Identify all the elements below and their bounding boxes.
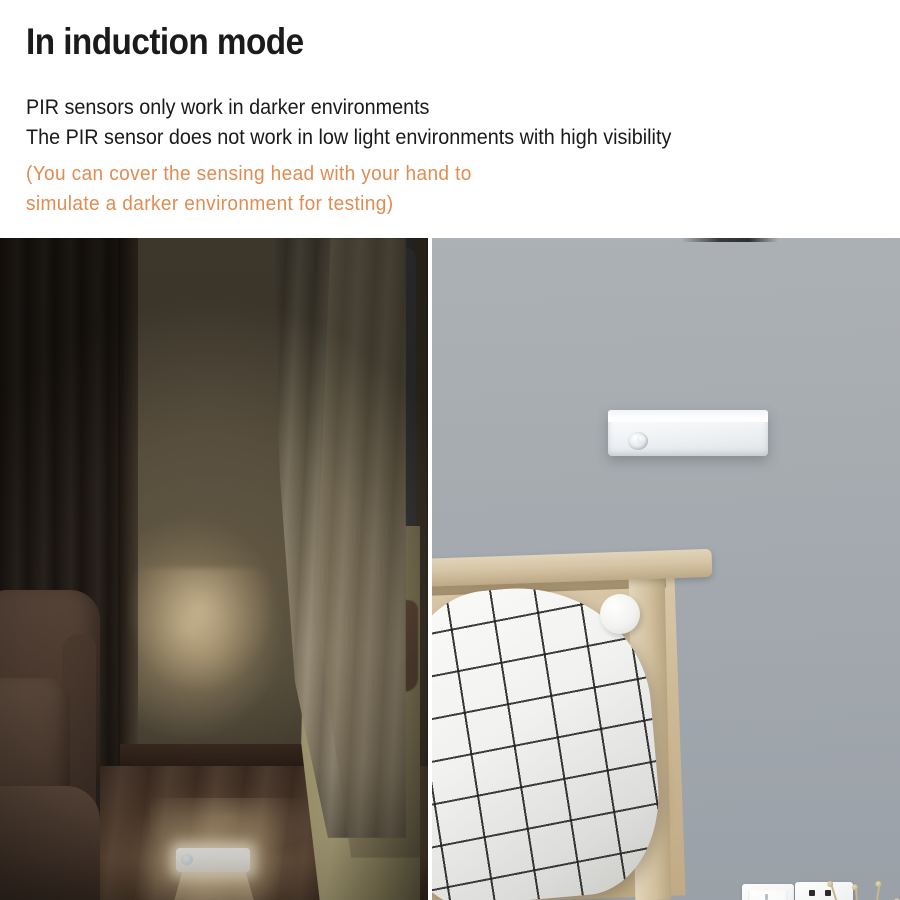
right-dried-flowers [808,876,900,900]
header-note-line-2: simulate a darker environment for testin… [26,190,393,217]
right-switch-indicator [765,894,768,900]
left-floor-glow [150,798,400,900]
header-note-line-1: (You can cover the sensing head with you… [26,160,472,187]
header-line-2: The PIR sensor does not work in low ligh… [26,124,671,151]
left-wall-light-pool [128,568,318,758]
flower-stem [862,885,880,900]
comparison-photo-strip: PIR sensors only sense in darker environ… [0,238,900,900]
left-sofa-seat [0,786,100,900]
page-root: In induction mode PIR sensors only work … [0,0,900,900]
photo-right-bright-room [432,238,900,900]
header-line-1: PIR sensors only work in darker environm… [26,94,429,121]
header-text-block: In induction mode PIR sensors only work … [0,0,900,238]
right-ceiling-edge-line [682,238,778,242]
right-switch-rocker [748,890,788,900]
flower-stem [855,888,864,900]
right-pillow-pompom [600,594,640,634]
flower-stem [830,884,863,900]
right-led-top-face [608,410,768,422]
right-pir-sensor-lens [637,435,646,444]
photo-left-dark-room [0,238,428,900]
page-title: In induction mode [26,20,304,64]
